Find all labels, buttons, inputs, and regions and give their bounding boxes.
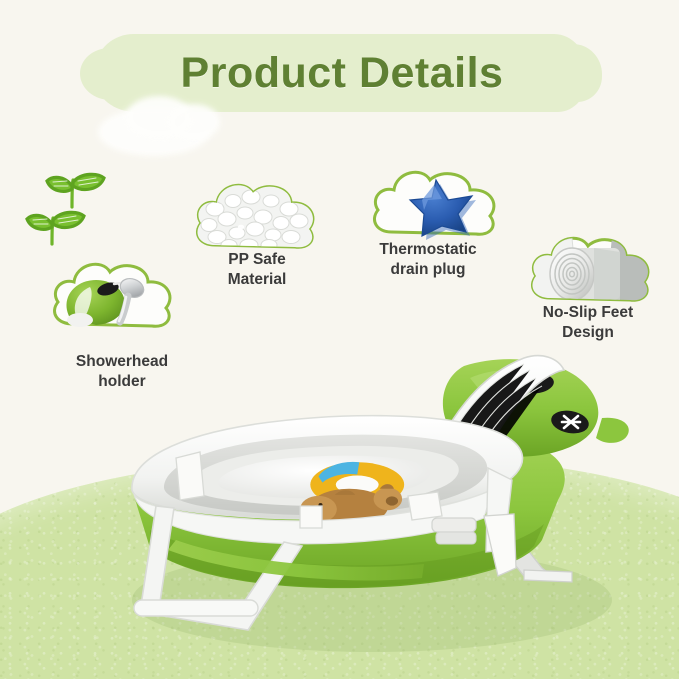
soft-cloud [168,104,220,140]
feature-label-pp-safe-material: PP Safe Material [228,250,287,290]
product-image-foldable-baby-bathtub [72,300,632,660]
feature-pp-safe-material: PP Safe Material [185,165,345,295]
feature-thermostatic-drain-plug: Thermostatic drain plug [360,152,530,287]
sprout-icon [22,160,114,250]
product-detail-image: Product Details [0,0,679,679]
feature-label-thermostatic-drain-plug: Thermostatic drain plug [379,240,476,280]
